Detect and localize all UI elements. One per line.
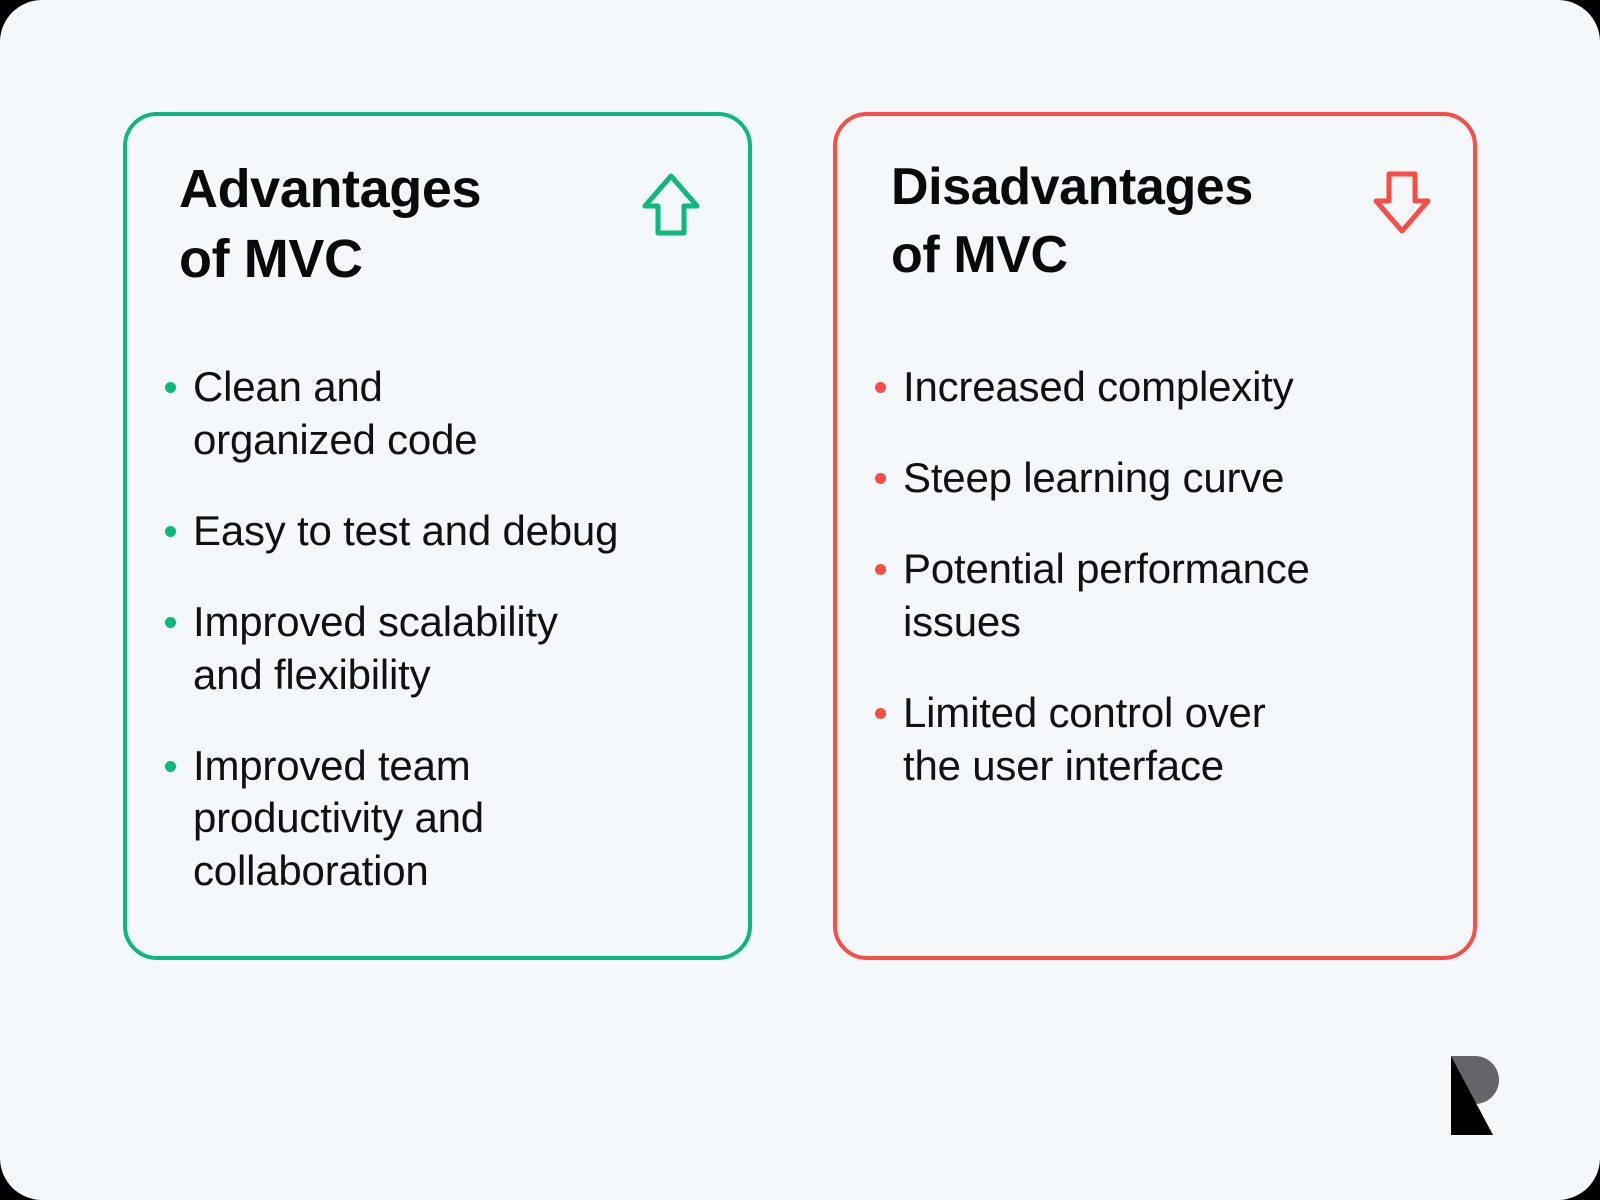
bullet-dot-icon — [165, 526, 176, 537]
bullet-dot-icon — [875, 473, 886, 484]
brand-logo-r-icon — [1441, 1056, 1503, 1136]
advantages-card-title: Advantages of MVC — [179, 154, 481, 294]
list-item: Steep learning curve — [875, 452, 1449, 505]
disadvantages-card-title: Disadvantages of MVC — [891, 154, 1253, 289]
advantages-card-header: Advantages of MVC — [127, 154, 748, 294]
list-item: Potential performance issues — [875, 543, 1449, 649]
list-item: Easy to test and debug — [165, 505, 712, 558]
bullet-dot-icon — [165, 382, 176, 393]
list-item: Limited control over the user interface — [875, 687, 1449, 793]
list-item-text: Clean and organized code — [193, 361, 477, 467]
list-item-text: Improved team productivity and collabora… — [193, 740, 484, 899]
bullet-dot-icon — [165, 761, 176, 772]
list-item-text: Steep learning curve — [903, 452, 1284, 505]
disadvantages-list: Increased complexity Steep learning curv… — [837, 361, 1473, 792]
list-item: Increased complexity — [875, 361, 1449, 414]
disadvantages-card: Disadvantages of MVC Increased complexit… — [833, 112, 1477, 960]
list-item-text: Limited control over the user interface — [903, 687, 1266, 793]
comparison-infographic: Advantages of MVC Clean and organized co… — [0, 0, 1600, 1200]
list-item-text: Improved scalability and flexibility — [193, 596, 558, 702]
list-item-text: Increased complexity — [903, 361, 1294, 414]
list-item: Improved team productivity and collabora… — [165, 740, 712, 899]
advantages-list: Clean and organized code Easy to test an… — [127, 361, 748, 898]
arrow-down-icon — [1371, 168, 1433, 243]
advantages-card: Advantages of MVC Clean and organized co… — [123, 112, 752, 960]
list-item-text: Potential performance issues — [903, 543, 1310, 649]
cards-container: Advantages of MVC Clean and organized co… — [0, 0, 1600, 1200]
list-item: Improved scalability and flexibility — [165, 596, 712, 702]
list-item: Clean and organized code — [165, 361, 712, 467]
bullet-dot-icon — [875, 708, 886, 719]
arrow-up-icon — [640, 170, 702, 245]
bullet-dot-icon — [875, 382, 886, 393]
bullet-dot-icon — [165, 617, 176, 628]
bullet-dot-icon — [875, 564, 886, 575]
list-item-text: Easy to test and debug — [193, 505, 618, 558]
disadvantages-card-header: Disadvantages of MVC — [837, 154, 1473, 289]
